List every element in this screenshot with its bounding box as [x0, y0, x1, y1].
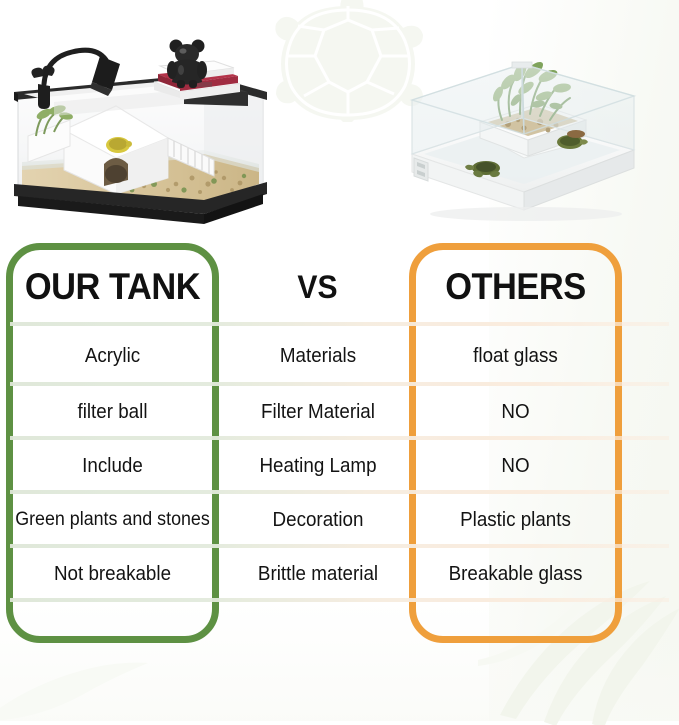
comparison-table: OUR TANK VS OTHERS Acrylic Materials flo…	[0, 240, 679, 650]
others-value: Plastic plants	[417, 494, 613, 546]
feature-label: Filter Material	[238, 386, 398, 438]
others-heading: OTHERS	[420, 256, 611, 318]
our-tank-value: Acrylic	[14, 330, 210, 382]
our-tank-value: Not breakable	[14, 548, 210, 600]
our-tank-heading: OUR TANK	[17, 256, 208, 318]
table-row: Acrylic Materials float glass	[0, 330, 679, 382]
others-value: NO	[417, 386, 613, 438]
table-row: filter ball Filter Material NO	[0, 386, 679, 438]
others-value: float glass	[417, 330, 613, 382]
table-row: Include Heating Lamp NO	[0, 440, 679, 492]
our-tank-value: Include	[14, 440, 210, 492]
feature-label: Decoration	[238, 494, 398, 546]
table-row: Green plants and stones Decoration Plast…	[0, 494, 679, 546]
others-value: Breakable glass	[417, 548, 613, 600]
row-separator	[10, 322, 669, 326]
product-photo-row	[0, 0, 679, 240]
our-tank-value: filter ball	[14, 386, 210, 438]
our-tank-value: Green plants and stones	[14, 494, 210, 546]
others-value: NO	[417, 440, 613, 492]
table-row: Not breakable Brittle material Breakable…	[0, 548, 679, 600]
our-tank-photo	[8, 34, 276, 230]
bear-figurine	[167, 40, 207, 89]
row-separator	[10, 598, 669, 602]
vs-heading: VS	[245, 256, 391, 318]
others-tank-photo	[398, 42, 646, 222]
feature-label: Brittle material	[238, 548, 398, 600]
comparison-header-row: OUR TANK VS OTHERS	[0, 256, 679, 318]
feature-label: Materials	[238, 330, 398, 382]
feature-label: Heating Lamp	[238, 440, 398, 492]
